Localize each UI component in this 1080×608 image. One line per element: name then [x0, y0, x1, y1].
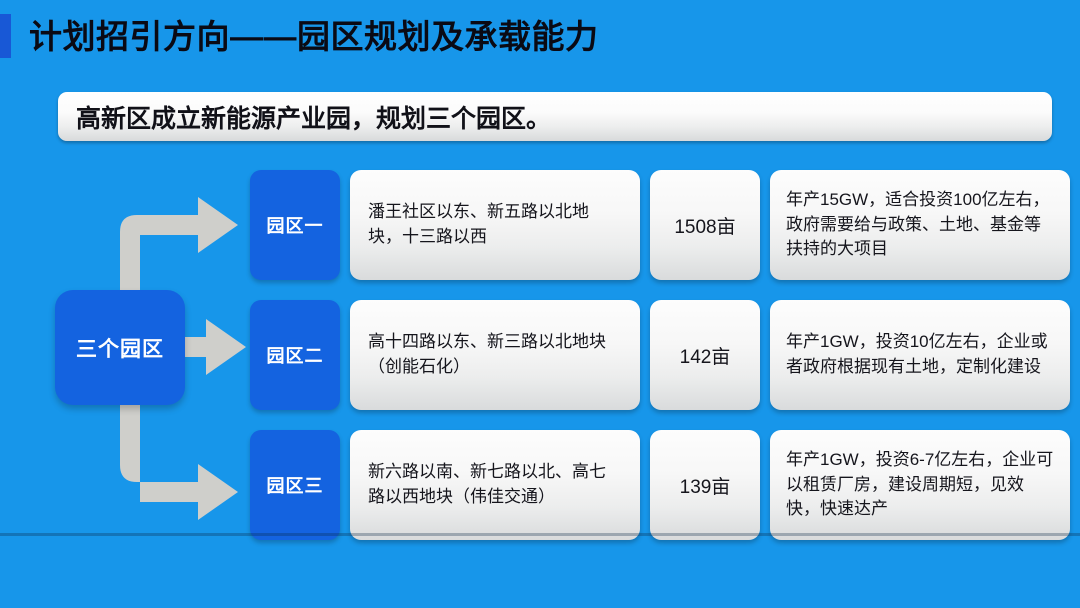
zone-badge-3[interactable]: 园区三 [250, 430, 340, 540]
zone-diagram: 三个园区 园区一 潘王社区以东、新五路以北地块，十三路以西 1508亩 年产15… [0, 160, 1080, 560]
page-title: 计划招引方向——园区规划及承载能力 [0, 14, 599, 58]
title-accent-bar [0, 14, 11, 58]
table-row: 园区三 新六路以南、新七路以北、高七路以西地块（伟佳交通） 139亩 年产1GW… [250, 430, 1070, 540]
zone-area-text: 1508亩 [674, 212, 735, 239]
zone-note-card-3: 年产1GW，投资6-7亿左右，企业可以租赁厂房，建设周期短，见效快，快速达产 [770, 430, 1070, 540]
zone-location-card-2: 高十四路以东、新三路以北地块（创能石化） [350, 300, 640, 410]
zone-location-card-1: 潘王社区以东、新五路以北地块，十三路以西 [350, 170, 640, 280]
zone-area-card-2: 142亩 [650, 300, 760, 410]
zone-badge-label: 园区一 [267, 212, 324, 238]
zone-badge-label: 园区二 [267, 342, 324, 368]
table-row: 园区一 潘王社区以东、新五路以北地块，十三路以西 1508亩 年产15GW，适合… [250, 170, 1070, 280]
zone-location-text: 潘王社区以东、新五路以北地块，十三路以西 [368, 200, 622, 249]
zone-badge-2[interactable]: 园区二 [250, 300, 340, 410]
zone-area-text: 139亩 [680, 472, 731, 499]
zone-area-text: 142亩 [680, 342, 731, 369]
zone-location-text: 高十四路以东、新三路以北地块（创能石化） [368, 330, 622, 379]
zone-badge-label: 园区三 [267, 472, 324, 498]
root-node-label: 三个园区 [76, 333, 164, 363]
bottom-divider [0, 533, 1080, 536]
zone-note-text: 年产15GW，适合投资100亿左右，政府需要给与政策、土地、基金等扶持的大项目 [786, 188, 1054, 262]
page-title-text: 计划招引方向——园区规划及承载能力 [29, 20, 599, 53]
zone-note-text: 年产1GW，投资10亿左右，企业或者政府根据现有土地，定制化建设 [786, 330, 1054, 379]
arrow-to-zone-2-icon [185, 319, 246, 375]
zone-note-card-2: 年产1GW，投资10亿左右，企业或者政府根据现有土地，定制化建设 [770, 300, 1070, 410]
zone-area-card-1: 1508亩 [650, 170, 760, 280]
zone-note-text: 年产1GW，投资6-7亿左右，企业可以租赁厂房，建设周期短，见效快，快速达产 [786, 448, 1054, 522]
zone-badge-1[interactable]: 园区一 [250, 170, 340, 280]
zone-note-card-1: 年产15GW，适合投资100亿左右，政府需要给与政策、土地、基金等扶持的大项目 [770, 170, 1070, 280]
zone-location-text: 新六路以南、新七路以北、高七路以西地块（伟佳交通） [368, 460, 622, 509]
zone-location-card-3: 新六路以南、新七路以北、高七路以西地块（伟佳交通） [350, 430, 640, 540]
table-row: 园区二 高十四路以东、新三路以北地块（创能石化） 142亩 年产1GW，投资10… [250, 300, 1070, 410]
subtitle-text: 高新区成立新能源产业园，规划三个园区。 [76, 99, 551, 135]
root-node-three-zones[interactable]: 三个园区 [55, 290, 185, 405]
zone-area-card-3: 139亩 [650, 430, 760, 540]
subtitle-banner: 高新区成立新能源产业园，规划三个园区。 [58, 92, 1052, 141]
